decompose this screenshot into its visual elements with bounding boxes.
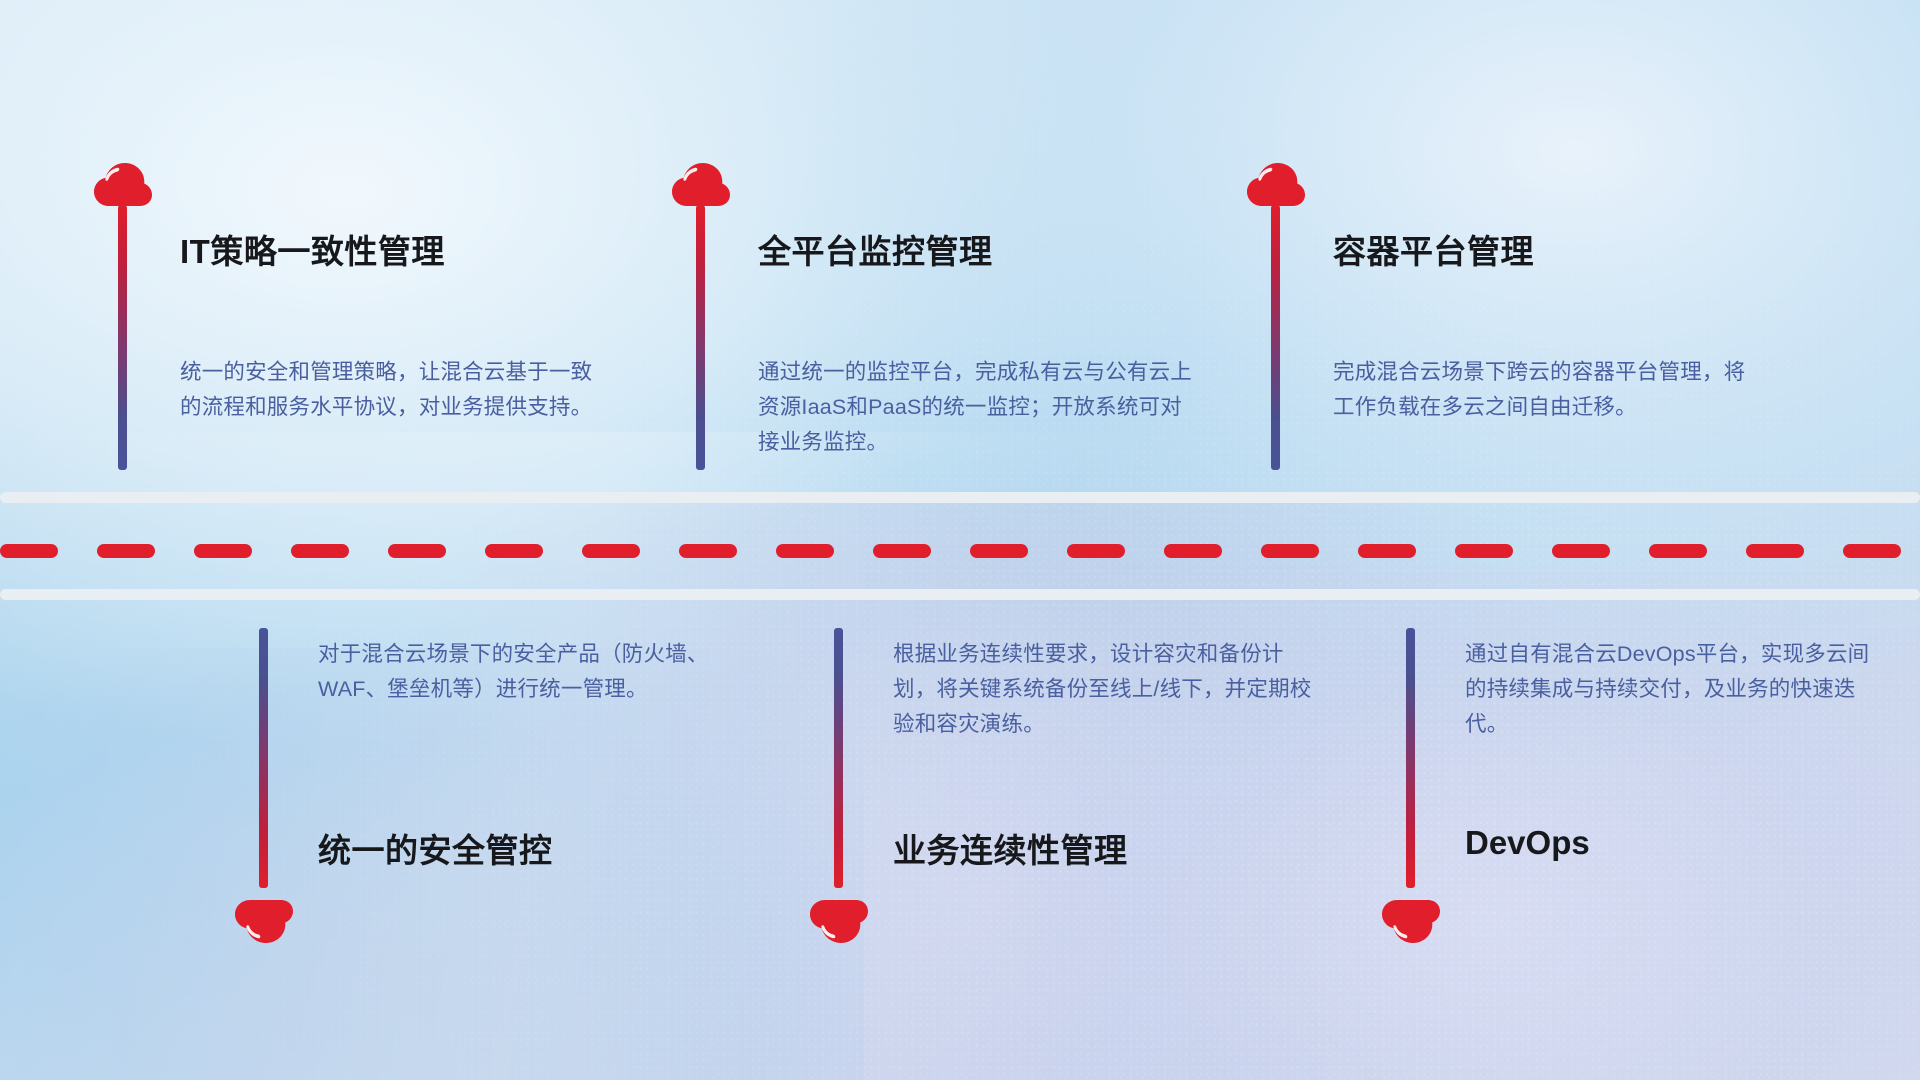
cloud-icon-glyph bbox=[670, 160, 732, 208]
cloud-icon bbox=[1245, 160, 1307, 208]
feature-title: 业务连续性管理 bbox=[893, 824, 1128, 872]
cloud-icon bbox=[670, 160, 732, 208]
feature-title: DevOps bbox=[1465, 824, 1590, 862]
feature-description: 通过自有混合云DevOps平台，实现多云间的持续集成与持续交付，及业务的快速迭代… bbox=[1465, 637, 1885, 741]
feature-title: 统一的安全管控 bbox=[318, 824, 553, 872]
cloud-icon bbox=[92, 160, 154, 208]
road-dash bbox=[582, 544, 640, 558]
road-dash bbox=[1649, 544, 1707, 558]
road-dash bbox=[1261, 544, 1319, 558]
road-dash bbox=[776, 544, 834, 558]
feature-description: 通过统一的监控平台，完成私有云与公有云上资源IaaS和PaaS的统一监控；开放系… bbox=[758, 355, 1198, 459]
road-dash bbox=[970, 544, 1028, 558]
cloud-icon-glyph bbox=[92, 160, 154, 208]
connector-stem bbox=[259, 628, 268, 888]
road-dash bbox=[1552, 544, 1610, 558]
cloud-icon bbox=[1380, 898, 1442, 946]
road-dash bbox=[1164, 544, 1222, 558]
feature-title: IT策略一致性管理 bbox=[180, 225, 445, 273]
cloud-icon-glyph bbox=[233, 898, 295, 946]
road-dash bbox=[1455, 544, 1513, 558]
road-edge-line-bottom bbox=[0, 589, 1920, 600]
road-dash bbox=[97, 544, 155, 558]
road-dash bbox=[1067, 544, 1125, 558]
cloud-icon bbox=[808, 898, 870, 946]
road-dash bbox=[1843, 544, 1901, 558]
cloud-icon-glyph bbox=[1380, 898, 1442, 946]
road-dash bbox=[485, 544, 543, 558]
connector-stem bbox=[696, 205, 705, 470]
road-dash bbox=[291, 544, 349, 558]
feature-title: 全平台监控管理 bbox=[758, 225, 993, 273]
feature-description: 根据业务连续性要求，设计容灾和备份计划，将关键系统备份至线上/线下，并定期校验和… bbox=[893, 637, 1313, 741]
road-dash bbox=[679, 544, 737, 558]
road-dash bbox=[1358, 544, 1416, 558]
feature-description: 对于混合云场景下的安全产品（防火墙、WAF、堡垒机等）进行统一管理。 bbox=[318, 637, 738, 707]
connector-stem bbox=[1406, 628, 1415, 888]
cloud-icon-glyph bbox=[1245, 160, 1307, 208]
connector-stem bbox=[834, 628, 843, 888]
road-dash bbox=[873, 544, 931, 558]
cloud-icon bbox=[233, 898, 295, 946]
road-edge-line-top bbox=[0, 492, 1920, 503]
road-dash bbox=[388, 544, 446, 558]
road-dash bbox=[1746, 544, 1804, 558]
feature-description: 统一的安全和管理策略，让混合云基于一致的流程和服务水平协议，对业务提供支持。 bbox=[180, 355, 610, 425]
feature-title: 容器平台管理 bbox=[1333, 225, 1534, 273]
connector-stem bbox=[1271, 205, 1280, 470]
feature-description: 完成混合云场景下跨云的容器平台管理，将工作负载在多云之间自由迁移。 bbox=[1333, 355, 1753, 425]
road-dash bbox=[194, 544, 252, 558]
connector-stem bbox=[118, 205, 127, 470]
cloud-icon-glyph bbox=[808, 898, 870, 946]
road-center-dashes bbox=[0, 544, 1920, 558]
road-dash bbox=[0, 544, 58, 558]
